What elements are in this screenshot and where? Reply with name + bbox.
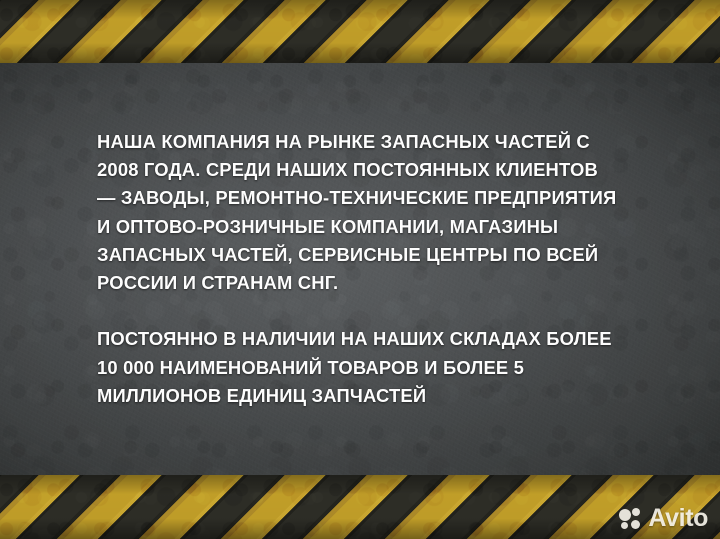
- avito-circles-icon: [619, 508, 643, 530]
- avito-circle-bottom-right: [631, 520, 640, 529]
- hazard-stripe-band-top: [0, 0, 720, 63]
- copy-line: РОССИИ И СТРАНАМ СНГ.: [97, 269, 657, 297]
- hazard-stripe-band-bottom: [0, 475, 720, 539]
- paragraph-company-profile: НАША КОМПАНИЯ НА РЫНКЕ ЗАПАСНЫХ ЧАСТЕЙ С…: [97, 128, 657, 297]
- hazard-band-shading-bottom: [0, 475, 720, 539]
- copy-line: — ЗАВОДЫ, РЕМОНТНО-ТЕХНИЧЕСКИЕ ПРЕДПРИЯТ…: [97, 184, 657, 212]
- copy-line: НАША КОМПАНИЯ НА РЫНКЕ ЗАПАСНЫХ ЧАСТЕЙ С: [97, 128, 657, 156]
- copy-line: ПОСТОЯННО В НАЛИЧИИ НА НАШИХ СКЛАДАХ БОЛ…: [97, 325, 657, 353]
- avito-circle-top-right: [632, 508, 640, 516]
- avito-circle-large: [619, 509, 631, 521]
- paragraph-stock-availability: ПОСТОЯННО В НАЛИЧИИ НА НАШИХ СКЛАДАХ БОЛ…: [97, 325, 657, 410]
- copy-line: ЗАПАСНЫХ ЧАСТЕЙ, СЕРВИСНЫЕ ЦЕНТРЫ ПО ВСЕ…: [97, 241, 657, 269]
- avito-watermark: Avito: [619, 506, 708, 531]
- copy-line: 10 000 НАИМЕНОВАНИЙ ТОВАРОВ И БОЛЕЕ 5: [97, 354, 657, 382]
- advert-copy-block: НАША КОМПАНИЯ НА РЫНКЕ ЗАПАСНЫХ ЧАСТЕЙ С…: [97, 128, 657, 410]
- copy-line: МИЛЛИОНОВ ЕДИНИЦ ЗАПЧАСТЕЙ: [97, 382, 657, 410]
- avito-circle-bottom-left: [621, 522, 628, 529]
- poster-canvas: НАША КОМПАНИЯ НА РЫНКЕ ЗАПАСНЫХ ЧАСТЕЙ С…: [0, 0, 720, 539]
- avito-wordmark: Avito: [648, 506, 708, 531]
- hazard-band-shading-top: [0, 0, 720, 63]
- copy-line: И ОПТОВО-РОЗНИЧНЫЕ КОМПАНИИ, МАГАЗИНЫ: [97, 213, 657, 241]
- copy-line: 2008 ГОДА. СРЕДИ НАШИХ ПОСТОЯННЫХ КЛИЕНТ…: [97, 156, 657, 184]
